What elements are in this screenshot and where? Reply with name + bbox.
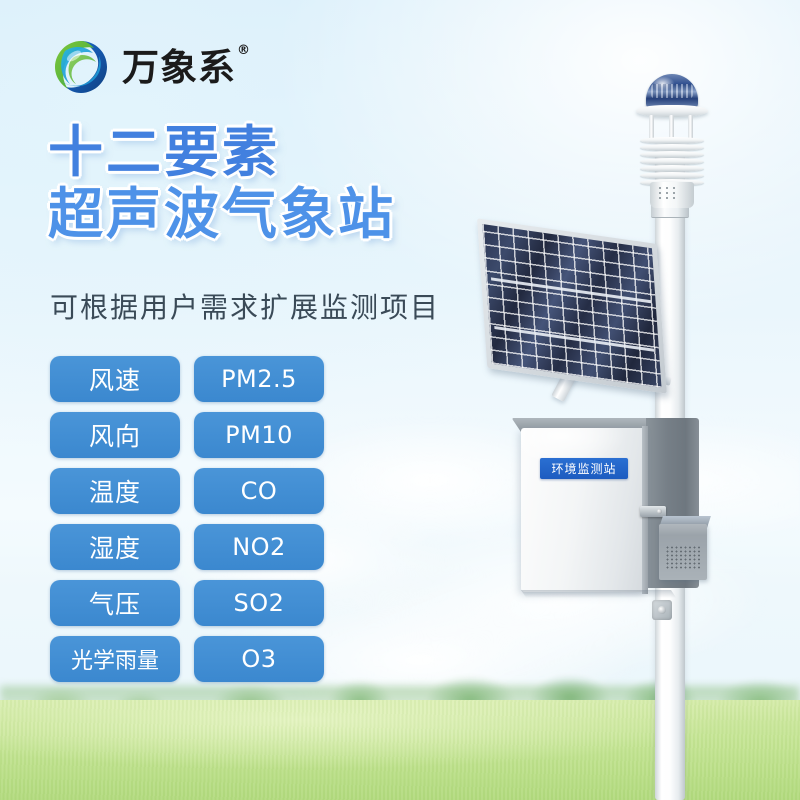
pill-no2[interactable]: NO2 <box>194 524 324 570</box>
feature-pill-grid: 风速 PM2.5 风向 PM10 温度 CO 湿度 NO2 气压 SO2 光学雨… <box>50 356 324 682</box>
grass-field <box>0 700 800 800</box>
pill-humidity[interactable]: 湿度 <box>50 524 180 570</box>
pill-pm10[interactable]: PM10 <box>194 412 324 458</box>
pill-wind-direction[interactable]: 风向 <box>50 412 180 458</box>
headline-line-2: 超声波气象站 <box>48 184 396 246</box>
poster-canvas: 环境监测站 <box>0 0 800 800</box>
pill-wind-speed[interactable]: 风速 <box>50 356 180 402</box>
brand-logo: 万象系® <box>52 38 250 96</box>
pill-so2[interactable]: SO2 <box>194 580 324 626</box>
headline-line-1: 十二要素 <box>48 122 396 184</box>
brand-name: 万象系® <box>122 49 250 86</box>
headline-block: 十二要素 超声波气象站 <box>48 122 396 245</box>
pill-temperature[interactable]: 温度 <box>50 468 180 514</box>
pill-pm25[interactable]: PM2.5 <box>194 356 324 402</box>
registered-mark: ® <box>237 43 251 58</box>
globe-swirl-logo-icon <box>52 38 110 96</box>
subtitle: 可根据用户需求扩展监测项目 <box>50 286 440 326</box>
pill-co[interactable]: CO <box>194 468 324 514</box>
pill-o3[interactable]: O3 <box>194 636 324 682</box>
pill-air-pressure[interactable]: 气压 <box>50 580 180 626</box>
pill-optical-rainfall[interactable]: 光学雨量 <box>50 636 180 682</box>
